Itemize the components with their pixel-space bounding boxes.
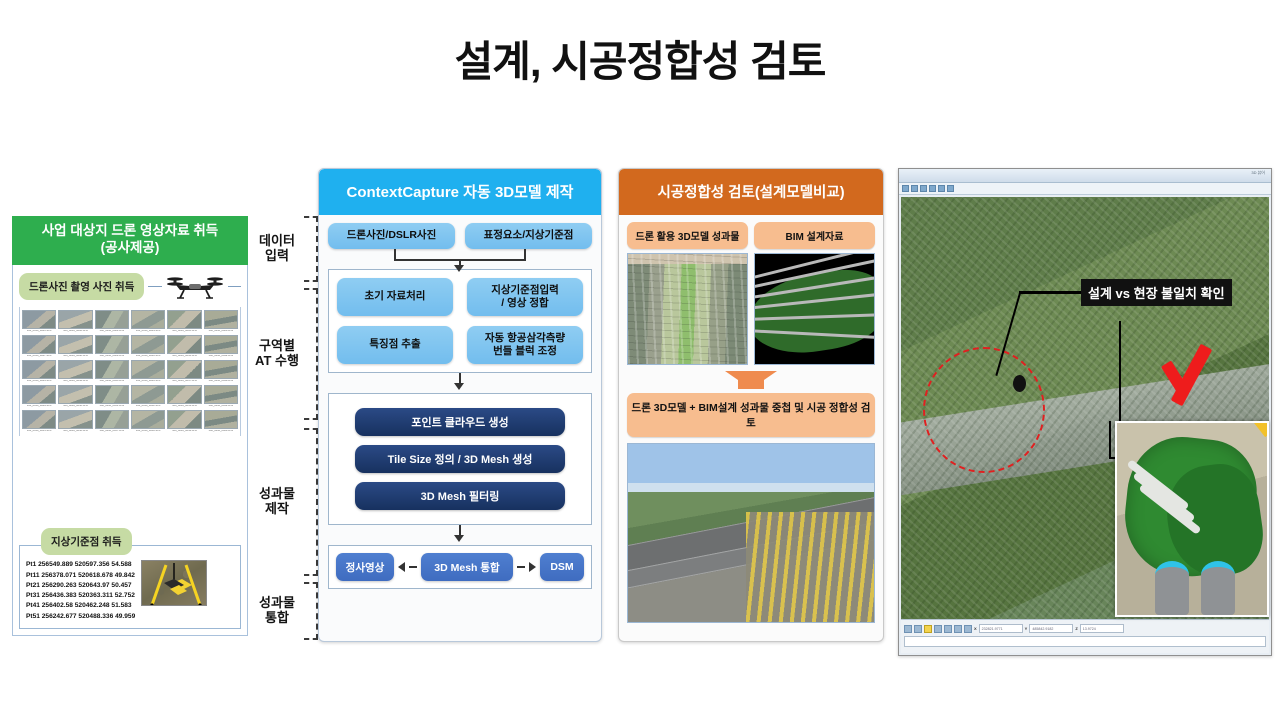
stage-bracket — [304, 428, 318, 576]
photo-thumbnail-grid: 100_0010_0001.JPG100_0010_0002.JPG100_00… — [19, 307, 241, 436]
cad-window: 3D 뷰어 설계 vs 현장 불일치 확인 — [898, 168, 1272, 656]
photo-thumbnail: 100_0010_0060.JPG — [204, 410, 238, 433]
red-check-icon — [1169, 343, 1231, 415]
connector-at-to-product — [328, 373, 592, 393]
product-group: 포인트 클라우드 생성 Tile Size 정의 / 3D Mesh 생성 3D… — [328, 393, 592, 525]
photo-thumbnail: 100_0010_0044.JPG — [58, 360, 92, 383]
photo-thumbnail: 100_0010_0006.JPG — [204, 310, 238, 333]
photo-thumbnail-image — [58, 310, 92, 329]
down-arrow-icon — [725, 371, 777, 389]
photo-thumbnail-caption: 100_0010_0058.JPG — [131, 430, 165, 433]
status-osnap-icon[interactable] — [944, 625, 952, 633]
stage-bracket — [304, 582, 318, 640]
photo-thumbnail-image — [22, 410, 56, 429]
photo-thumbnail-image — [58, 410, 92, 429]
photo-thumbnail-image — [58, 335, 92, 354]
photo-thumbnail-caption: 100_0010_0040.JPG — [131, 355, 165, 358]
photo-thumbnail-caption: 100_0010_0049.JPG — [22, 405, 56, 408]
photo-thumbnail-caption: 100_0010_0060.JPG — [204, 430, 238, 433]
model-compare-row: 드론 활용 3D모델 성과물 BIM 설계자료 — [627, 222, 875, 365]
photo-thumbnail-image — [204, 385, 238, 404]
status-polar-icon[interactable] — [934, 625, 942, 633]
at-group: 초기 자료처리 지상기준점입력/ 영상 정합 특징점 추출 자동 항공삼각측량번… — [328, 269, 592, 373]
photo-thumbnail: 100_0010_0045.JPG — [95, 360, 129, 383]
inset-yellow-road — [1212, 421, 1269, 437]
photo-thumbnail-caption: 100_0010_0008.JPG — [58, 355, 92, 358]
gcp-target-photo — [141, 560, 207, 606]
status-icon-row[interactable]: X 232821.9771 Y 485842.9182 Z 13.9724 — [901, 620, 1269, 633]
gcp-coordinate-row: Pt11 256378.071 520618.678 49.842 — [26, 571, 135, 581]
aerial-photo-render — [628, 254, 747, 364]
panel-contextcapture: ContextCapture 자동 3D모델 제작 드론사진/DSLR사진 표정… — [318, 168, 602, 642]
connector-inputs-to-at — [328, 249, 592, 269]
photo-thumbnail: 100_0010_0005.JPG — [167, 310, 201, 333]
bim-model-image — [754, 253, 875, 365]
photo-thumbnail: 100_0010_0041.JPG — [167, 335, 201, 358]
photo-thumbnail-caption: 100_0010_0003.JPG — [95, 330, 129, 333]
photo-thumbnail: 100_0010_0059.JPG — [167, 410, 201, 433]
coord-z-label: Z — [1075, 626, 1077, 631]
photo-thumbnail: 100_0010_0042.JPG — [204, 335, 238, 358]
photo-thumbnail: 100_0010_0057.JPG — [95, 410, 129, 433]
drone-model-image — [627, 253, 748, 365]
photo-thumbnail-caption: 100_0010_0052.JPG — [131, 405, 165, 408]
status-dyn-icon[interactable] — [964, 625, 972, 633]
photo-thumbnail: 100_0010_0056.JPG — [58, 410, 92, 433]
toolbar-measure-icon[interactable] — [938, 185, 945, 192]
design-change-leader-vertical — [1119, 321, 1121, 421]
photo-thumbnail-caption: 100_0010_0053.JPG — [167, 405, 201, 408]
coord-y-field[interactable]: 485842.9182 — [1029, 624, 1073, 633]
photo-thumbnail-image — [95, 385, 129, 404]
photo-thumbnail-image — [167, 360, 201, 379]
toolbar-pan-icon[interactable] — [929, 185, 936, 192]
at-box-feature-extraction: 특징점 추출 — [337, 326, 453, 364]
photo-thumbnail: 100_0010_0004.JPG — [131, 310, 165, 333]
photo-thumbnail-image — [131, 335, 165, 354]
photo-thumbnail-caption: 100_0010_0048.JPG — [204, 380, 238, 383]
photo-thumbnail-caption: 100_0010_0006.JPG — [204, 330, 238, 333]
product-stack: 포인트 클라우드 생성 Tile Size 정의 / 3D Mesh 생성 3D… — [337, 402, 583, 516]
status-grid-icon[interactable] — [914, 625, 922, 633]
gcp-chip: 지상기준점 취득 — [41, 528, 132, 555]
command-line-input[interactable] — [904, 636, 1266, 647]
photo-thumbnail-caption: 100_0010_0001.JPG — [22, 330, 56, 333]
gcp-coordinate-row: Pt41 256402.58 520462.248 51.583 — [26, 601, 135, 611]
photo-thumbnail-image — [22, 360, 56, 379]
photo-thumbnail: 100_0010_0049.JPG — [22, 385, 56, 408]
photo-thumbnail-caption: 100_0010_0009.JPG — [95, 355, 129, 358]
photo-thumbnail-caption: 100_0010_0050.JPG — [58, 405, 92, 408]
cad-title-bar[interactable]: 3D 뷰어 — [899, 169, 1271, 183]
output-group: 정사영상 3D Mesh 통합 DSM — [328, 545, 592, 589]
stage-at-execution: 구역별AT 수행 — [252, 288, 318, 420]
gcp-coordinate-row: Pt31 256436.383 520363.311 52.752 — [26, 591, 135, 601]
toolbar-open-icon[interactable] — [902, 185, 909, 192]
photo-thumbnail: 100_0010_0054.JPG — [204, 385, 238, 408]
gcp-box: Pt1 256549.889 520597.356 54.588Pt11 256… — [19, 545, 241, 628]
photo-thumbnail-caption: 100_0010_0046.JPG — [131, 380, 165, 383]
arrow-right-icon — [529, 562, 536, 572]
connector-product-to-output — [328, 525, 592, 545]
toolbar-save-icon[interactable] — [911, 185, 918, 192]
product-box-mesh-filtering: 3D Mesh 필터링 — [355, 482, 565, 510]
panel2-header: ContextCapture 자동 3D모델 제작 — [319, 169, 601, 215]
photo-thumbnail-image — [204, 335, 238, 354]
photo-thumbnail-caption: 100_0010_0054.JPG — [204, 405, 238, 408]
photo-thumbnail-image — [95, 335, 129, 354]
cad-toolbar[interactable] — [899, 183, 1271, 195]
photo-thumbnail-image — [167, 335, 201, 354]
panel1-body: 드론사진 촬영 사진 취득 100_0010_0001.JPG100_0010_ — [12, 265, 248, 636]
status-otrack-icon[interactable] — [954, 625, 962, 633]
panel2-body: 드론사진/DSLR사진 표정요소/지상기준점 초기 자료처리 지상기준점입력/ … — [319, 215, 601, 598]
photo-thumbnail-image — [95, 310, 129, 329]
photo-thumbnail-image — [204, 310, 238, 329]
inset-tunnel-portal-1 — [1155, 561, 1189, 615]
connector-line-right — [228, 286, 241, 287]
connector-bar-right — [517, 566, 525, 568]
photo-thumbnail: 100_0010_0052.JPG — [131, 385, 165, 408]
photo-thumbnail-caption: 100_0010_0045.JPG — [95, 380, 129, 383]
equipment-yard — [746, 512, 874, 622]
arrow-left-icon — [398, 562, 405, 572]
at-grid: 초기 자료처리 지상기준점입력/ 영상 정합 특징점 추출 자동 항공삼각측량번… — [337, 278, 583, 364]
output-box-dsm: DSM — [540, 553, 584, 581]
gcp-coordinate-row: Pt1 256549.889 520597.356 54.588 — [26, 560, 135, 570]
at-box-gcp-input-matching: 지상기준점입력/ 영상 정합 — [467, 278, 583, 316]
inset-tunnel-portal-2 — [1201, 561, 1235, 615]
photo-thumbnail-image — [22, 385, 56, 404]
panel-cad-viewer: 3D 뷰어 설계 vs 현장 불일치 확인 — [898, 168, 1272, 656]
photo-thumbnail-image — [131, 310, 165, 329]
photo-thumbnail-caption: 100_0010_0041.JPG — [167, 355, 201, 358]
drone-model-column: 드론 활용 3D모델 성과물 — [627, 222, 748, 365]
status-snap-icon[interactable] — [904, 625, 912, 633]
toolbar-zoom-icon[interactable] — [920, 185, 927, 192]
gcp-section: 지상기준점 취득 Pt1 256549.889 520597.356 54.58… — [19, 528, 241, 628]
photo-thumbnail: 100_0010_0040.JPG — [131, 335, 165, 358]
input-box-gcp: 표정요소/지상기준점 — [465, 223, 592, 249]
mismatch-marker — [923, 347, 1045, 473]
callout-leader-line-horizontal — [1019, 291, 1081, 294]
photo-thumbnail: 100_0010_0007.JPG — [22, 335, 56, 358]
stage-product-creation: 성과물제작 — [252, 428, 318, 576]
stage-product-integration: 성과물통합 — [252, 582, 318, 640]
panel-drone-acquisition: 사업 대상지 드론 영상자료 취득 (공사제공) 드론사진 촬영 사진 취득 — [12, 216, 248, 640]
output-box-orthophoto: 정사영상 — [336, 553, 394, 581]
photo-thumbnail-caption: 100_0010_0044.JPG — [58, 380, 92, 383]
photo-thumbnail: 100_0010_0043.JPG — [22, 360, 56, 383]
page-title: 설계, 시공정합성 검토 — [0, 28, 1280, 89]
bim-render — [755, 254, 874, 364]
coord-x-field[interactable]: 232821.9771 — [979, 624, 1023, 633]
coord-z-field[interactable]: 13.9724 — [1080, 624, 1124, 633]
photo-thumbnail-image — [167, 385, 201, 404]
panel2-frame: ContextCapture 자동 3D모델 제작 드론사진/DSLR사진 표정… — [318, 168, 602, 642]
panel3-frame: 시공정합성 검토(설계모델비교) 드론 활용 3D모델 성과물 BIM 설계자료 — [618, 168, 884, 642]
photo-thumbnail-caption: 100_0010_0042.JPG — [204, 355, 238, 358]
photo-capture-chip: 드론사진 촬영 사진 취득 — [19, 273, 144, 300]
photo-thumbnail: 100_0010_0048.JPG — [204, 360, 238, 383]
photo-thumbnail: 100_0010_0002.JPG — [58, 310, 92, 333]
photo-thumbnail-caption: 100_0010_0055.JPG — [22, 430, 56, 433]
photo-thumbnail: 100_0010_0046.JPG — [131, 360, 165, 383]
photo-thumbnail-caption: 100_0010_0059.JPG — [167, 430, 201, 433]
photo-thumbnail: 100_0010_0050.JPG — [58, 385, 92, 408]
stage-label-column: 데이터입력 구역별AT 수행 성과물제작 성과물통합 — [252, 216, 318, 640]
photo-thumbnail-image — [204, 360, 238, 379]
gcp-coordinate-row: Pt51 256242.677 520488.336 49.959 — [26, 612, 135, 622]
at-box-initial-processing: 초기 자료처리 — [337, 278, 453, 316]
overlay-result-image — [627, 443, 875, 623]
panel1-header: 사업 대상지 드론 영상자료 취득 (공사제공) — [12, 216, 248, 265]
connector-bar-left — [409, 566, 417, 568]
photo-thumbnail-image — [58, 385, 92, 404]
photo-thumbnail-caption: 100_0010_0047.JPG — [167, 380, 201, 383]
photo-thumbnail: 100_0010_0047.JPG — [167, 360, 201, 383]
bim-terrain — [755, 264, 874, 361]
status-ortho-icon[interactable] — [924, 625, 932, 633]
photo-thumbnail-caption: 100_0010_0004.JPG — [131, 330, 165, 333]
tunnel-model-inset — [1115, 421, 1269, 617]
photo-thumbnail: 100_0010_0055.JPG — [22, 410, 56, 433]
photo-thumbnail-caption: 100_0010_0007.JPG — [22, 355, 56, 358]
slide-root: 설계, 시공정합성 검토 사업 대상지 드론 영상자료 취득 (공사제공) 드론… — [0, 0, 1280, 720]
stage-data-input: 데이터입력 — [252, 216, 318, 282]
photo-thumbnail-caption: 100_0010_0051.JPG — [95, 405, 129, 408]
cad-window-title: 3D 뷰어 — [1251, 170, 1265, 176]
photo-thumbnail-caption: 100_0010_0057.JPG — [95, 430, 129, 433]
photo-thumbnail-image — [167, 310, 201, 329]
photo-thumbnail-image — [22, 335, 56, 354]
panel1-header-line1: 사업 대상지 드론 영상자료 취득 — [16, 223, 244, 240]
gcp-coordinate-row: Pt21 256290.263 520643.97 50.457 — [26, 581, 135, 591]
callout-anchor-dot — [1013, 375, 1026, 392]
drone-icon — [166, 273, 224, 299]
photo-thumbnail-image — [58, 360, 92, 379]
panel3-header: 시공정합성 검토(설계모델비교) — [619, 169, 883, 215]
photo-thumbnail-image — [95, 410, 129, 429]
photo-thumbnail: 100_0010_0008.JPG — [58, 335, 92, 358]
photo-thumbnail: 100_0010_0058.JPG — [131, 410, 165, 433]
connector-line-left — [148, 286, 161, 287]
photo-thumbnail-image — [131, 410, 165, 429]
chip-drone-model: 드론 활용 3D모델 성과물 — [627, 222, 748, 249]
photo-thumbnail-image — [167, 410, 201, 429]
panel3-body: 드론 활용 3D모델 성과물 BIM 설계자료 — [619, 215, 883, 630]
result-chip: 드론 3D모델 + BIM설계 성과물 중첩 및 시공 정합성 검토 — [627, 393, 875, 437]
photo-capture-row: 드론사진 촬영 사진 취득 — [19, 273, 241, 300]
photo-thumbnail-image — [131, 385, 165, 404]
output-row: 정사영상 3D Mesh 통합 DSM — [336, 553, 584, 581]
gcp-coordinate-list: Pt1 256549.889 520597.356 54.588Pt11 256… — [26, 560, 135, 621]
bim-model-column: BIM 설계자료 — [754, 222, 875, 365]
coord-y-label: Y — [1025, 626, 1028, 631]
photo-thumbnail-image — [131, 360, 165, 379]
product-box-tile-mesh: Tile Size 정의 / 3D Mesh 생성 — [355, 445, 565, 473]
stage-bracket — [304, 216, 318, 282]
input-box-photos: 드론사진/DSLR사진 — [328, 223, 455, 249]
photo-thumbnail-caption: 100_0010_0056.JPG — [58, 430, 92, 433]
photo-thumbnail: 100_0010_0003.JPG — [95, 310, 129, 333]
photo-thumbnail-caption: 100_0010_0002.JPG — [58, 330, 92, 333]
cad-status-bar[interactable]: X 232821.9771 Y 485842.9182 Z 13.9724 — [901, 619, 1269, 653]
photo-thumbnail-caption: 100_0010_0043.JPG — [22, 380, 56, 383]
toolbar-layer-icon[interactable] — [947, 185, 954, 192]
overlay-scene-render — [628, 444, 874, 622]
callout-label: 설계 vs 현장 불일치 확인 — [1081, 279, 1232, 306]
photo-thumbnail-image — [95, 360, 129, 379]
output-box-mesh-merge: 3D Mesh 통합 — [421, 553, 513, 581]
product-box-point-cloud: 포인트 클라우드 생성 — [355, 408, 565, 436]
stage-bracket — [304, 288, 318, 420]
photo-thumbnail: 100_0010_0053.JPG — [167, 385, 201, 408]
panel1-header-line2: (공사제공) — [16, 240, 244, 257]
photo-thumbnail-caption: 100_0010_0005.JPG — [167, 330, 201, 333]
input-row: 드론사진/DSLR사진 표정요소/지상기준점 — [328, 223, 592, 249]
photo-thumbnail-image — [22, 310, 56, 329]
photo-thumbnail: 100_0010_0009.JPG — [95, 335, 129, 358]
panel-consistency-review: 시공정합성 검토(설계모델비교) 드론 활용 3D모델 성과물 BIM 설계자료 — [618, 168, 884, 642]
photo-thumbnail-image — [204, 410, 238, 429]
at-box-bundle-adjustment: 자동 항공삼각측량번들 블럭 조정 — [467, 326, 583, 364]
photo-thumbnail: 100_0010_0001.JPG — [22, 310, 56, 333]
coord-x-label: X — [974, 626, 977, 631]
photo-thumbnail: 100_0010_0051.JPG — [95, 385, 129, 408]
chip-bim-design: BIM 설계자료 — [754, 222, 875, 249]
